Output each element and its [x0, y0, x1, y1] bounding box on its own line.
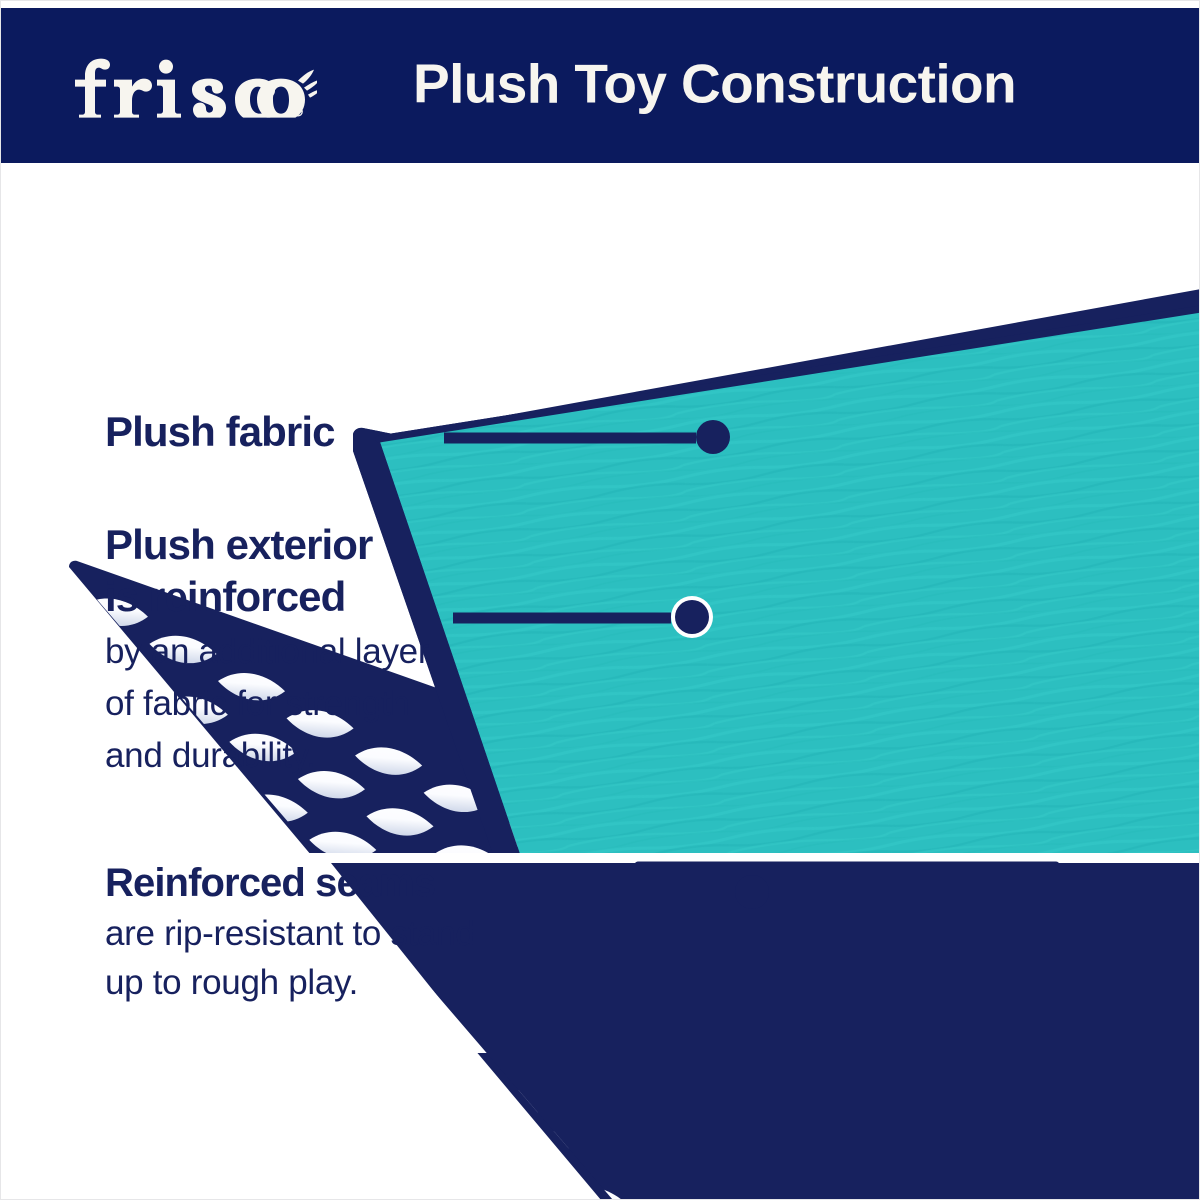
callout-reinforced-seams: Reinforced seams are rip-resistant to st…	[105, 858, 475, 1006]
callout-plush-exterior-heading-line1: Plush exterior	[105, 519, 429, 571]
callout-reinforced-seams-body-line2: up to rough play.	[105, 959, 475, 1006]
callout-plush-exterior-body-line3: and durability.	[105, 732, 429, 779]
callout-plush-exterior-body-line1: by an additional layer	[105, 628, 429, 675]
callout-reinforced-seams-body-line1: are rip-resistant to stand	[105, 910, 475, 957]
callout-plush-exterior-heading-line2: is reinforced	[105, 571, 429, 623]
callout-plush-fabric-heading: Plush fabric	[105, 407, 335, 457]
header-band: R Plush Toy Construction	[1, 8, 1200, 163]
callout-plush-fabric: Plush fabric	[105, 407, 335, 457]
callout-reinforced-seams-heading: Reinforced seams	[105, 858, 475, 908]
callout-plush-exterior-body-line2: of fabric for strength	[105, 680, 429, 727]
page-title: Plush Toy Construction	[413, 51, 1016, 115]
infographic-canvas: R Plush Toy Construction	[0, 0, 1200, 1200]
callout-plush-exterior: Plush exterior is reinforced by an addit…	[105, 519, 429, 779]
registered-trademark-symbol: R	[296, 110, 300, 116]
frisco-wordmark-logo: R	[67, 51, 317, 117]
